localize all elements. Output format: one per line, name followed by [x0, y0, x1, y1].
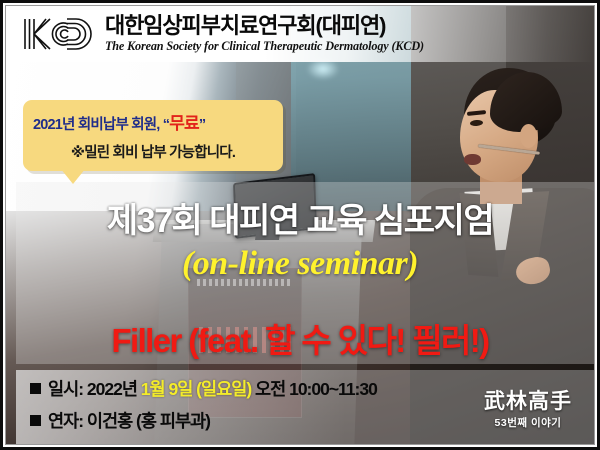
date-highlight: 1월 9일 (일요일)	[141, 379, 251, 399]
speaker-label: 연자:	[48, 411, 87, 431]
notice-bubble-tail	[56, 163, 90, 184]
notice-line-2: ※밀린 회비 납부 가능합니다.	[33, 141, 273, 162]
seminar-title-english: (on-line seminar)	[6, 244, 594, 285]
main-title-block: 제37회 대피연 교육 심포지엄 (on-line seminar)	[6, 202, 594, 285]
speaker-mouth	[464, 154, 481, 165]
poster-header: 대한임상피부치료연구회(대피연) The Korean Society for …	[6, 6, 594, 62]
notice-line-1-prefix: 2021년 회비납부 회원, “	[33, 117, 169, 133]
seminar-topic-title: Filler (feat. 할 수 있다! 필러!)	[6, 314, 594, 362]
poster-inner-frame: 대한임상피부치료연구회(대피연) The Korean Society for …	[5, 5, 595, 445]
org-name-english: The Korean Society for Clinical Therapeu…	[105, 40, 424, 52]
series-stamp: 武林高手 53번째 이야기	[484, 391, 572, 430]
kcd-monogram-icon	[20, 15, 96, 53]
speaker-ear	[520, 124, 537, 148]
seminar-title-korean: 제37회 대피연 교육 심포지엄	[6, 202, 594, 240]
bullet-square-icon	[30, 383, 41, 394]
notice-line-1-suffix: ”	[199, 117, 205, 133]
series-stamp-subtitle: 53번째 이야기	[484, 415, 572, 430]
event-details: 일시: 2022년 1월 9일 (일요일) 오전 10:00~11:30 연자:…	[30, 380, 377, 432]
membership-notice-bubble: 2021년 회비납부 회원, “무료” ※밀린 회비 납부 가능합니다.	[23, 100, 283, 171]
bullet-square-icon	[30, 415, 41, 426]
notice-line-1: 2021년 회비납부 회원, “무료”	[33, 109, 273, 134]
speaker-name: 이건홍 (홍 피부과)	[87, 411, 210, 431]
date-time: 오전 10:00~11:30	[251, 379, 377, 399]
date-year: 2022년	[87, 379, 141, 399]
detail-row-speaker: 연자: 이건홍 (홍 피부과)	[30, 412, 377, 431]
seminar-poster: 대한임상피부치료연구회(대피연) The Korean Society for …	[0, 0, 600, 450]
organization-names: 대한임상피부치료연구회(대피연) The Korean Society for …	[105, 15, 424, 53]
org-name-korean: 대한임상피부치료연구회(대피연)	[105, 15, 424, 37]
series-stamp-title: 武林高手	[484, 391, 572, 412]
detail-row-date: 일시: 2022년 1월 9일 (일요일) 오전 10:00~11:30	[30, 380, 377, 399]
date-label: 일시:	[48, 379, 87, 399]
notice-free-badge: 무료	[169, 114, 199, 133]
